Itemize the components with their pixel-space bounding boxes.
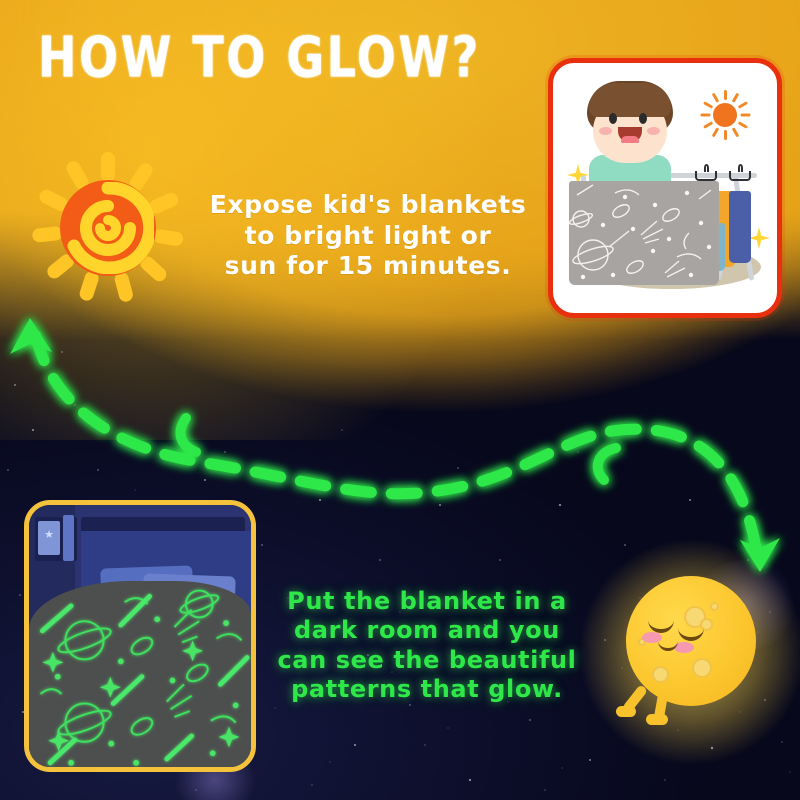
step-expose-text: Expose kid's blankets to bright light or… [196, 190, 540, 282]
boy-hair-front [589, 83, 671, 117]
moon-body [626, 576, 756, 706]
boy-eye-right [639, 113, 647, 124]
boy-hanging-blanket-card[interactable] [548, 58, 782, 318]
step-dark-text: Put the blanket in a dark room and you c… [262, 587, 592, 704]
moon-eye-right [678, 628, 704, 641]
space-pattern-blanket-day [569, 181, 719, 285]
moon-foot-left [616, 706, 636, 717]
boy-blush-right [647, 127, 660, 135]
hanger-2 [695, 164, 717, 182]
step-dark-line-3: can see the beautiful [262, 646, 592, 675]
sun-doodle-icon [699, 89, 751, 141]
step-dark-line-4: patterns that glow. [262, 675, 592, 704]
hanger-3 [729, 164, 751, 182]
moon-crater-4 [652, 666, 669, 683]
poster-canvas: HOW TO GLOW? Expose kid's blankets to br… [0, 0, 800, 800]
blanket-space-pattern [569, 181, 719, 285]
moon-crater-3 [692, 658, 712, 678]
spiral-sun-icon [28, 148, 188, 308]
sun-swirl-icon [62, 182, 154, 274]
glowing-space-blanket [29, 581, 251, 767]
glowing-blanket-pattern [29, 581, 251, 767]
step-dark-line-1: Put the blanket in a [262, 587, 592, 616]
cloth-blue [729, 191, 751, 263]
step-expose-line-2: to bright light or [196, 221, 540, 252]
step-dark-line-2: dark room and you [262, 616, 592, 645]
book-second [63, 515, 74, 561]
boy-blush-left [599, 127, 612, 135]
smiling-moon-character [608, 568, 776, 740]
boy-mouth [618, 127, 642, 143]
dark-bedroom-card[interactable]: ★ [24, 500, 256, 772]
moon-crater-5 [710, 602, 719, 611]
boy-eye-left [609, 113, 617, 124]
page-title: HOW TO GLOW? [38, 24, 481, 90]
star-icon: ★ [44, 530, 54, 540]
book-with-star: ★ [38, 521, 60, 555]
moon-foot-right [646, 714, 668, 725]
step-expose-line-3: sun for 15 minutes. [196, 251, 540, 282]
step-expose-line-1: Expose kid's blankets [196, 190, 540, 221]
boy-head [587, 81, 673, 165]
